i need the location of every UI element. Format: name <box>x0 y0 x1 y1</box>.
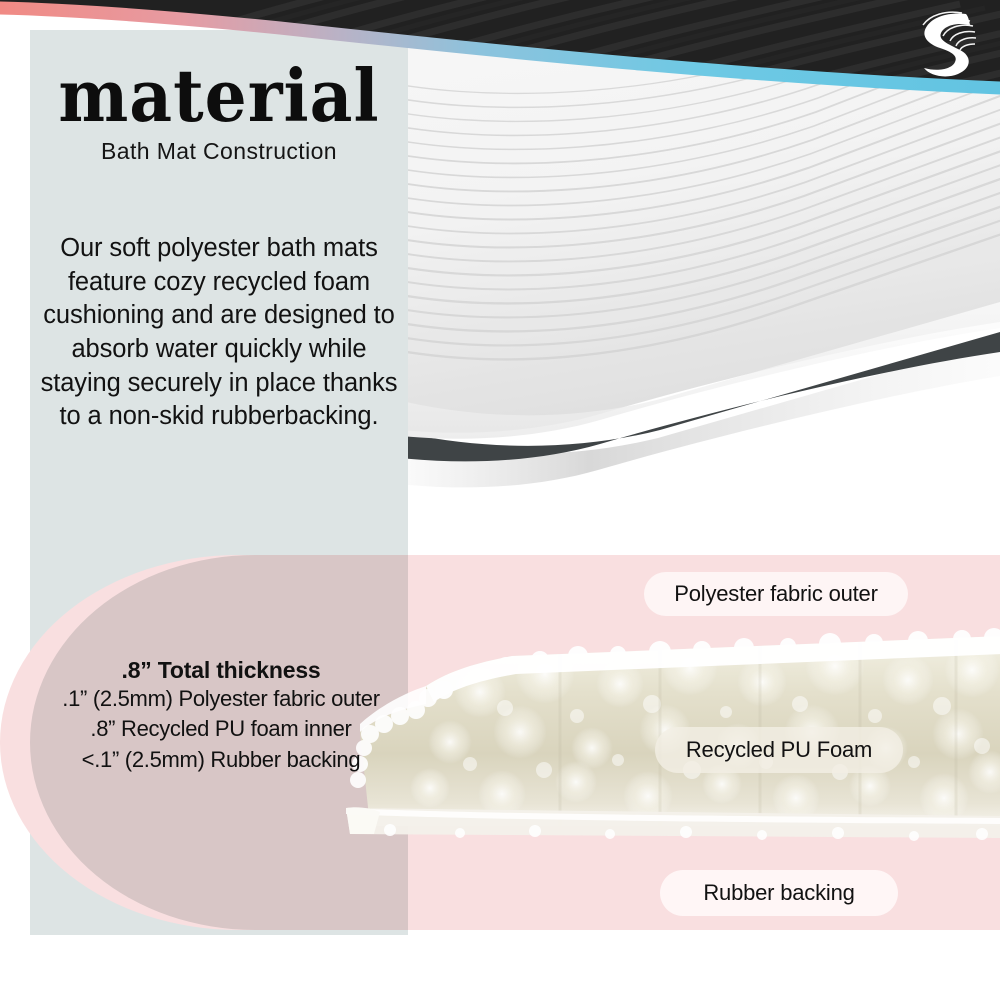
spec-total-thickness: .8” Total thickness <box>36 657 406 684</box>
spec-layer-rubber: <.1” (2.5mm) Rubber backing <box>36 745 406 775</box>
callout-recycled-pu-foam: Recycled PU Foam <box>655 727 903 773</box>
page-subtitle: Bath Mat Construction <box>30 138 408 165</box>
heading-block: material Bath Mat Construction <box>30 62 408 165</box>
s-swoosh-logo <box>900 4 986 82</box>
callout-rubber-backing: Rubber backing <box>660 870 898 916</box>
thickness-spec-block: .8” Total thickness .1” (2.5mm) Polyeste… <box>36 657 406 775</box>
description-paragraph: Our soft polyester bath mats feature coz… <box>40 232 398 434</box>
infographic-canvas: material Bath Mat Construction Our soft … <box>0 0 1000 1000</box>
spec-layer-foam: .8” Recycled PU foam inner <box>36 714 406 744</box>
callout-polyester-fabric-outer: Polyester fabric outer <box>644 572 908 616</box>
page-title: material <box>26 62 412 130</box>
description-text: Our soft polyester bath mats feature coz… <box>40 232 398 434</box>
spec-layer-fabric: .1” (2.5mm) Polyester fabric outer <box>36 684 406 714</box>
